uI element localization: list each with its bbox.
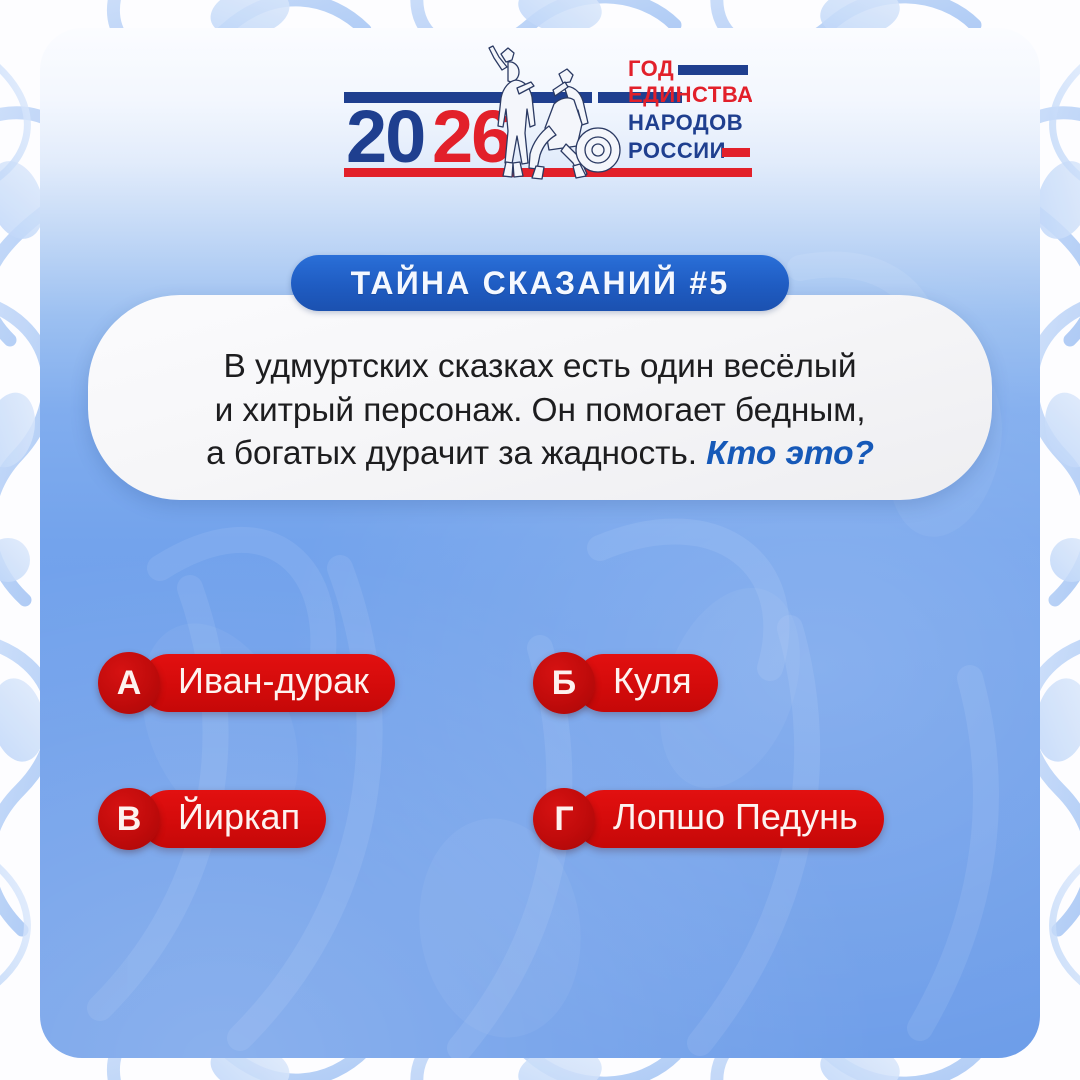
answer-letter-v: В xyxy=(98,788,160,850)
question-card: В удмуртских сказках есть один весёлый и… xyxy=(88,295,992,500)
answer-pill-b[interactable]: Куля xyxy=(575,654,718,712)
section-title-text: ТАЙНА СКАЗАНИЙ #5 xyxy=(351,265,730,302)
answer-label-g: Лопшо Педунь xyxy=(613,796,858,838)
svg-text:ЕДИНСТВА: ЕДИНСТВА xyxy=(628,82,752,107)
question-line-3: а богатых дурачит за жадность. xyxy=(206,435,697,472)
answer-letter-b: Б xyxy=(533,652,595,714)
answer-option-v[interactable]: В Йиркап xyxy=(98,788,326,850)
section-title-badge: ТАЙНА СКАЗАНИЙ #5 xyxy=(291,255,789,311)
answer-option-b[interactable]: Б Куля xyxy=(533,652,718,714)
answer-pill-v[interactable]: Йиркап xyxy=(140,790,326,848)
svg-text:ГОД: ГОД xyxy=(628,56,674,81)
answer-label-b: Куля xyxy=(613,660,692,702)
answer-label-v: Йиркап xyxy=(178,796,300,838)
answer-option-a[interactable]: А Иван-дурак xyxy=(98,652,395,714)
svg-text:НАРОДОВ: НАРОДОВ xyxy=(628,110,743,135)
answer-letter-g: Г xyxy=(533,788,595,850)
question-prompt: Кто это? xyxy=(706,435,874,472)
statue-emblem xyxy=(489,46,620,179)
svg-text:20: 20 xyxy=(346,95,424,178)
quiz-card-canvas: 20 26 xyxy=(0,0,1080,1080)
answer-label-a: Иван-дурак xyxy=(178,660,369,702)
question-line-2: и хитрый персонаж. Он помогает бедным, xyxy=(215,392,866,429)
answer-pill-a[interactable]: Иван-дурак xyxy=(140,654,395,712)
svg-text:РОССИИ: РОССИИ xyxy=(628,138,726,163)
question-text: В удмуртских сказках есть один весёлый и… xyxy=(206,345,874,476)
answer-letter-a: А xyxy=(98,652,160,714)
year-of-unity-logo: 20 26 xyxy=(340,40,752,190)
question-line-1: В удмуртских сказках есть один весёлый xyxy=(224,348,857,385)
answer-option-g[interactable]: Г Лопшо Педунь xyxy=(533,788,884,850)
svg-text:26: 26 xyxy=(432,95,510,178)
answer-pill-g[interactable]: Лопшо Педунь xyxy=(575,790,884,848)
